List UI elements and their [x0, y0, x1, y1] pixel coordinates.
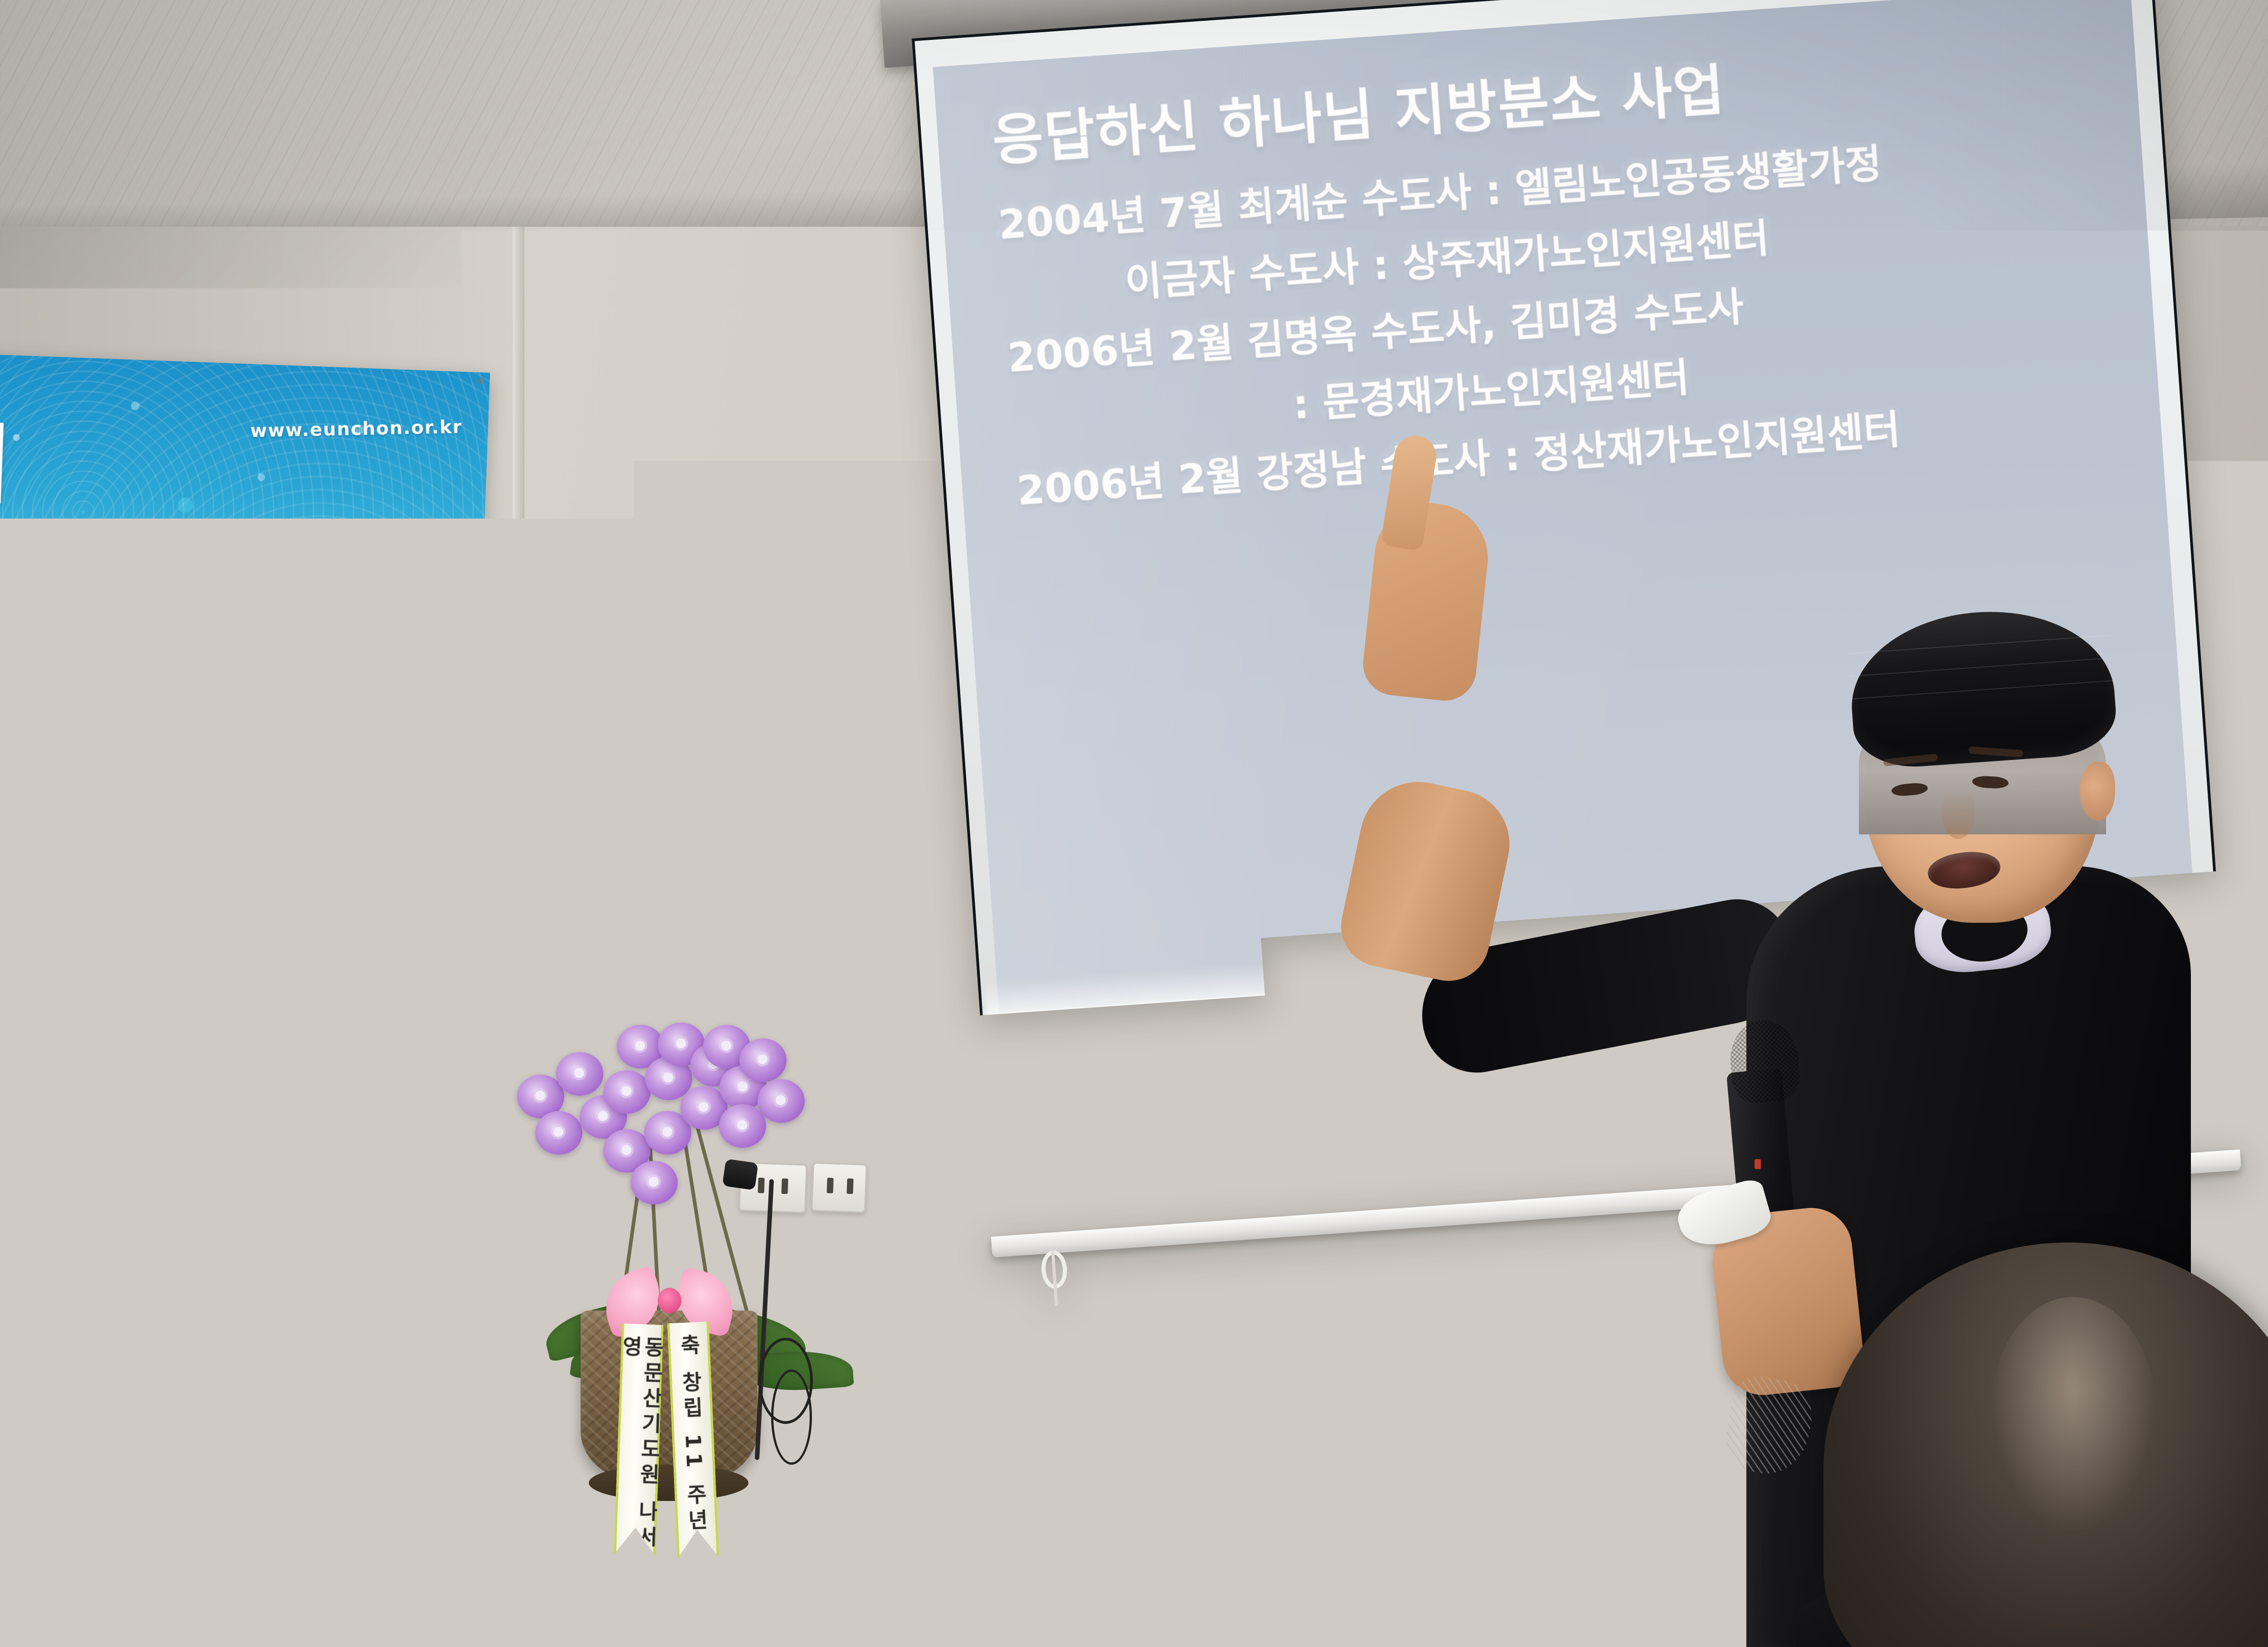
bow-knot [658, 1288, 681, 1313]
orchid-bloom [739, 1038, 787, 1082]
logo-subtitle: 사회복지법인 [264, 789, 442, 803]
outlet-slot [782, 1179, 788, 1194]
slide-line-5: 2006년 2월 강정남 수도사 : 정산재가노인지원센터 [1016, 393, 2121, 513]
wall-outlet-right[interactable] [811, 1162, 867, 1213]
ribbon-left-text: 동문산기도원 나서영 [613, 1335, 664, 1556]
outlet-slot [758, 1178, 765, 1193]
cap-fold [1851, 680, 2114, 699]
logo-title: 은천노인복지회 [263, 804, 441, 834]
cap-fold [1848, 635, 2111, 654]
power-plug [722, 1159, 758, 1190]
banner-website-url: www.eunchon.or.kr [250, 417, 463, 442]
orchid-bloom [603, 1070, 650, 1114]
ribbon-left: 동문산기도원 나서영 [614, 1324, 664, 1556]
coiled-cable [771, 1369, 812, 1465]
orchid-bloom [758, 1079, 805, 1123]
orchid-bloom [535, 1111, 582, 1155]
outlet-slot [847, 1179, 854, 1194]
speaker-ear [2080, 762, 2115, 821]
ribbon-right-text: 축 창립 11 주년 [678, 1334, 709, 1535]
speaker-head-covering [1846, 603, 2119, 771]
speaker-nose [1941, 789, 1975, 839]
smiley-face-logo-icon [204, 785, 254, 835]
presentation-photo-scene: 토요 www.eunchon.or.kr 회 사 사회복지법인 은천노인복지회 [0, 0, 2268, 1647]
banner-organization-logo: 사회복지법인 은천노인복지회 [204, 785, 442, 837]
wall-banner: www.eunchon.or.kr 회 사 사회복지법인 은천노인복지회 [0, 353, 490, 885]
orchid-pot-base [589, 1465, 748, 1501]
orchid-bloom [631, 1161, 678, 1204]
orchid-bloom [556, 1052, 603, 1096]
outlet-slot [827, 1178, 834, 1193]
orchid-bloom [719, 1104, 766, 1148]
logo-text-block: 사회복지법인 은천노인복지회 [263, 789, 441, 834]
cap-fold [1850, 658, 2112, 677]
microphone-led-icon [1755, 1159, 1761, 1169]
